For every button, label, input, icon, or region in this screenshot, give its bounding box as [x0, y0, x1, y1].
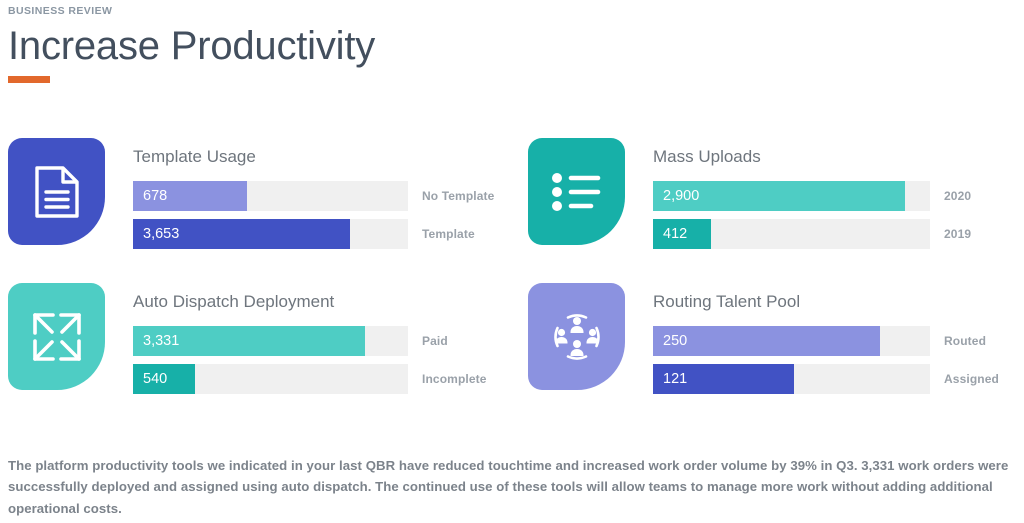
accent-bar [8, 76, 50, 83]
bar-category-label: Incomplete [422, 372, 487, 386]
bar-value: 2,900 [663, 189, 699, 204]
bar-chart: 2,900 2020 412 2019 [653, 181, 1024, 249]
bar-value: 3,331 [143, 334, 179, 349]
bar-track: 540 [133, 364, 408, 394]
bar-row: 250 Routed [653, 326, 1024, 356]
bulleted-list-icon [551, 171, 603, 213]
card-title: Auto Dispatch Deployment [133, 292, 518, 312]
icon-tile [8, 283, 105, 390]
bar-track: 3,331 [133, 326, 408, 356]
icon-tile [528, 283, 625, 390]
bar-category-label: Template [422, 227, 475, 241]
bar-row: 678 No Template [133, 181, 518, 211]
icon-tile [8, 138, 105, 245]
bar-category-label: 2020 [944, 189, 971, 203]
bar-value: 250 [663, 334, 687, 349]
bar-category-label: Routed [944, 334, 986, 348]
summary-paragraph: The platform productivity tools we indic… [8, 455, 1013, 519]
bar-category-label: Assigned [944, 372, 999, 386]
card-title: Mass Uploads [653, 147, 1024, 167]
page-title: Increase Productivity [8, 23, 1008, 69]
metric-card-grid: Template Usage 678 No Template 3,653 Tem… [0, 130, 1024, 410]
bar-category-label: Paid [422, 334, 448, 348]
people-network-icon [549, 309, 605, 365]
card-title: Template Usage [133, 147, 518, 167]
bar-track: 3,653 [133, 219, 408, 249]
bar-category-label: No Template [422, 189, 494, 203]
bar-track: 412 [653, 219, 930, 249]
bar-chart: 250 Routed 121 Assigned [653, 326, 1024, 394]
bar-value: 678 [143, 189, 167, 204]
bar-row: 3,331 Paid [133, 326, 518, 356]
bar-row: 121 Assigned [653, 364, 1024, 394]
icon-tile [528, 138, 625, 245]
bar-track: 250 [653, 326, 930, 356]
document-icon [34, 165, 80, 219]
expand-arrows-icon [31, 311, 83, 363]
bar-row: 2,900 2020 [653, 181, 1024, 211]
bar-chart: 678 No Template 3,653 Template [133, 181, 518, 249]
bar-track: 121 [653, 364, 930, 394]
eyebrow-label: BUSINESS REVIEW [8, 6, 1008, 18]
bar-value: 3,653 [143, 227, 179, 242]
card-body: Routing Talent Pool 250 Routed 121 Assig… [653, 283, 1024, 402]
bar-track: 678 [133, 181, 408, 211]
bar-value: 540 [143, 372, 167, 387]
bar-value: 412 [663, 227, 687, 242]
bar-row: 540 Incomplete [133, 364, 518, 394]
bar-row: 3,653 Template [133, 219, 518, 249]
bar-row: 412 2019 [653, 219, 1024, 249]
bar-track: 2,900 [653, 181, 930, 211]
bar-category-label: 2019 [944, 227, 971, 241]
card-body: Auto Dispatch Deployment 3,331 Paid 540 … [133, 283, 518, 402]
page-header: BUSINESS REVIEW Increase Productivity [8, 6, 1008, 69]
bar-value: 121 [663, 372, 687, 387]
card-title: Routing Talent Pool [653, 292, 1024, 312]
card-body: Template Usage 678 No Template 3,653 Tem… [133, 138, 518, 257]
bar-chart: 3,331 Paid 540 Incomplete [133, 326, 518, 394]
card-body: Mass Uploads 2,900 2020 412 2019 [653, 138, 1024, 257]
